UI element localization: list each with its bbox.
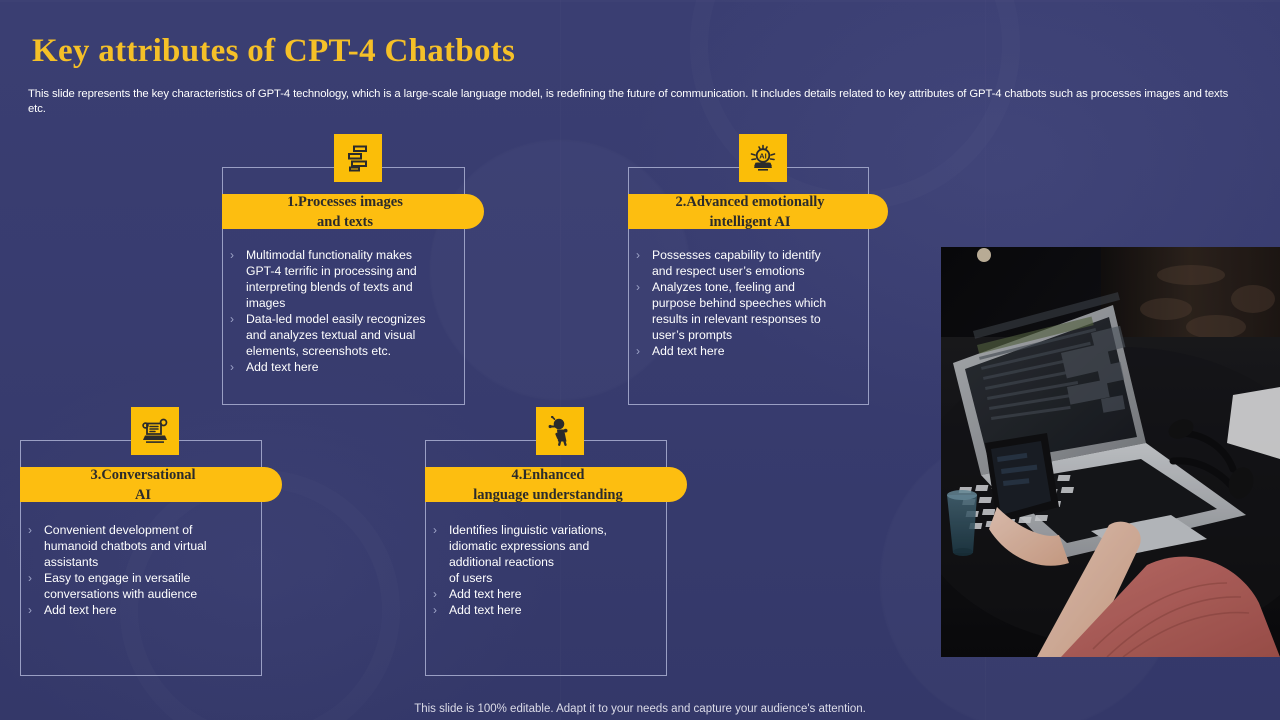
chevron-right-icon: › — [632, 247, 652, 263]
footer-note: This slide is 100% editable. Adapt it to… — [0, 703, 1280, 715]
card-3-bullet-list: › Convenient development of humanoid cha… — [24, 522, 252, 618]
list-item-text: Add text here — [44, 602, 252, 618]
list-item-text: Analyzes tone, feeling and purpose behin… — [652, 279, 862, 343]
card-3-title-line2: AI — [135, 485, 151, 505]
card-3-title-banner: 3.Conversational AI — [20, 467, 282, 502]
laptop-chat-icon — [131, 407, 179, 455]
card-1-bullet-list: › Multimodal functionality makes GPT-4 t… — [226, 247, 452, 375]
list-item-text: Data-led model easily recognizes and ana… — [246, 311, 452, 359]
list-item-text: Add text here — [449, 602, 657, 618]
list-item: › Multimodal functionality makes GPT-4 t… — [226, 247, 452, 311]
card-1-title-line1: 1.Processes images — [287, 192, 403, 212]
card-4-bullet-list: › Identifies linguistic variations, idio… — [429, 522, 657, 618]
chevron-right-icon: › — [429, 586, 449, 602]
chevron-right-icon: › — [429, 602, 449, 618]
card-3-title-line1: 3.Conversational — [90, 465, 195, 485]
list-item-text: Add text here — [449, 586, 657, 602]
robot-figure-icon — [536, 407, 584, 455]
chevron-right-icon: › — [226, 247, 246, 263]
ai-laptop-icon: AI — [739, 134, 787, 182]
list-item: › Add text here — [429, 602, 657, 618]
chevron-right-icon: › — [632, 343, 652, 359]
card-4-title-banner: 4.Enhanced language understanding — [425, 467, 687, 502]
list-item: › Identifies linguistic variations, idio… — [429, 522, 657, 586]
list-item-text: Identifies linguistic variations, idioma… — [449, 522, 657, 586]
card-2-title-banner: 2.Advanced emotionally intelligent AI — [628, 194, 888, 229]
slide-subtitle: This slide represents the key characteri… — [28, 87, 1246, 116]
list-item-text: Easy to engage in versatile conversation… — [44, 570, 252, 602]
chevron-right-icon: › — [226, 359, 246, 375]
chevron-right-icon: › — [24, 522, 44, 538]
slide-photo — [941, 247, 1280, 657]
svg-text:AI: AI — [759, 152, 766, 161]
card-1-title-line2: and texts — [317, 212, 373, 232]
data-layers-icon — [334, 134, 382, 182]
card-2-bullet-list: › Possesses capability to identify and r… — [632, 247, 862, 359]
list-item: › Data-led model easily recognizes and a… — [226, 311, 452, 359]
card-1-title-banner: 1.Processes images and texts — [222, 194, 484, 229]
list-item: › Add text here — [429, 586, 657, 602]
list-item-text: Convenient development of humanoid chatb… — [44, 522, 252, 570]
chevron-right-icon: › — [24, 602, 44, 618]
chevron-right-icon: › — [429, 522, 449, 538]
page-title: Key attributes of CPT-4 Chatbots — [32, 33, 515, 70]
list-item: › Possesses capability to identify and r… — [632, 247, 862, 279]
list-item: › Add text here — [632, 343, 862, 359]
card-4-title-line1: 4.Enhanced — [512, 465, 585, 485]
card-2-title-line1: 2.Advanced emotionally — [675, 192, 824, 212]
list-item-text: Multimodal functionality makes GPT-4 ter… — [246, 247, 452, 311]
list-item-text: Possesses capability to identify and res… — [652, 247, 862, 279]
list-item-text: Add text here — [652, 343, 862, 359]
list-item: › Add text here — [24, 602, 252, 618]
list-item: › Add text here — [226, 359, 452, 375]
chevron-right-icon: › — [632, 279, 652, 295]
background-decoration — [0, 0, 1280, 2]
list-item: › Analyzes tone, feeling and purpose beh… — [632, 279, 862, 343]
card-2-title-line2: intelligent AI — [710, 212, 791, 232]
list-item-text: Add text here — [246, 359, 452, 375]
slide-canvas: Key attributes of CPT-4 Chatbots This sl… — [0, 0, 1280, 720]
card-4-title-line2: language understanding — [473, 485, 622, 505]
chevron-right-icon: › — [226, 311, 246, 327]
list-item: › Convenient development of humanoid cha… — [24, 522, 252, 570]
chevron-right-icon: › — [24, 570, 44, 586]
list-item: › Easy to engage in versatile conversati… — [24, 570, 252, 602]
